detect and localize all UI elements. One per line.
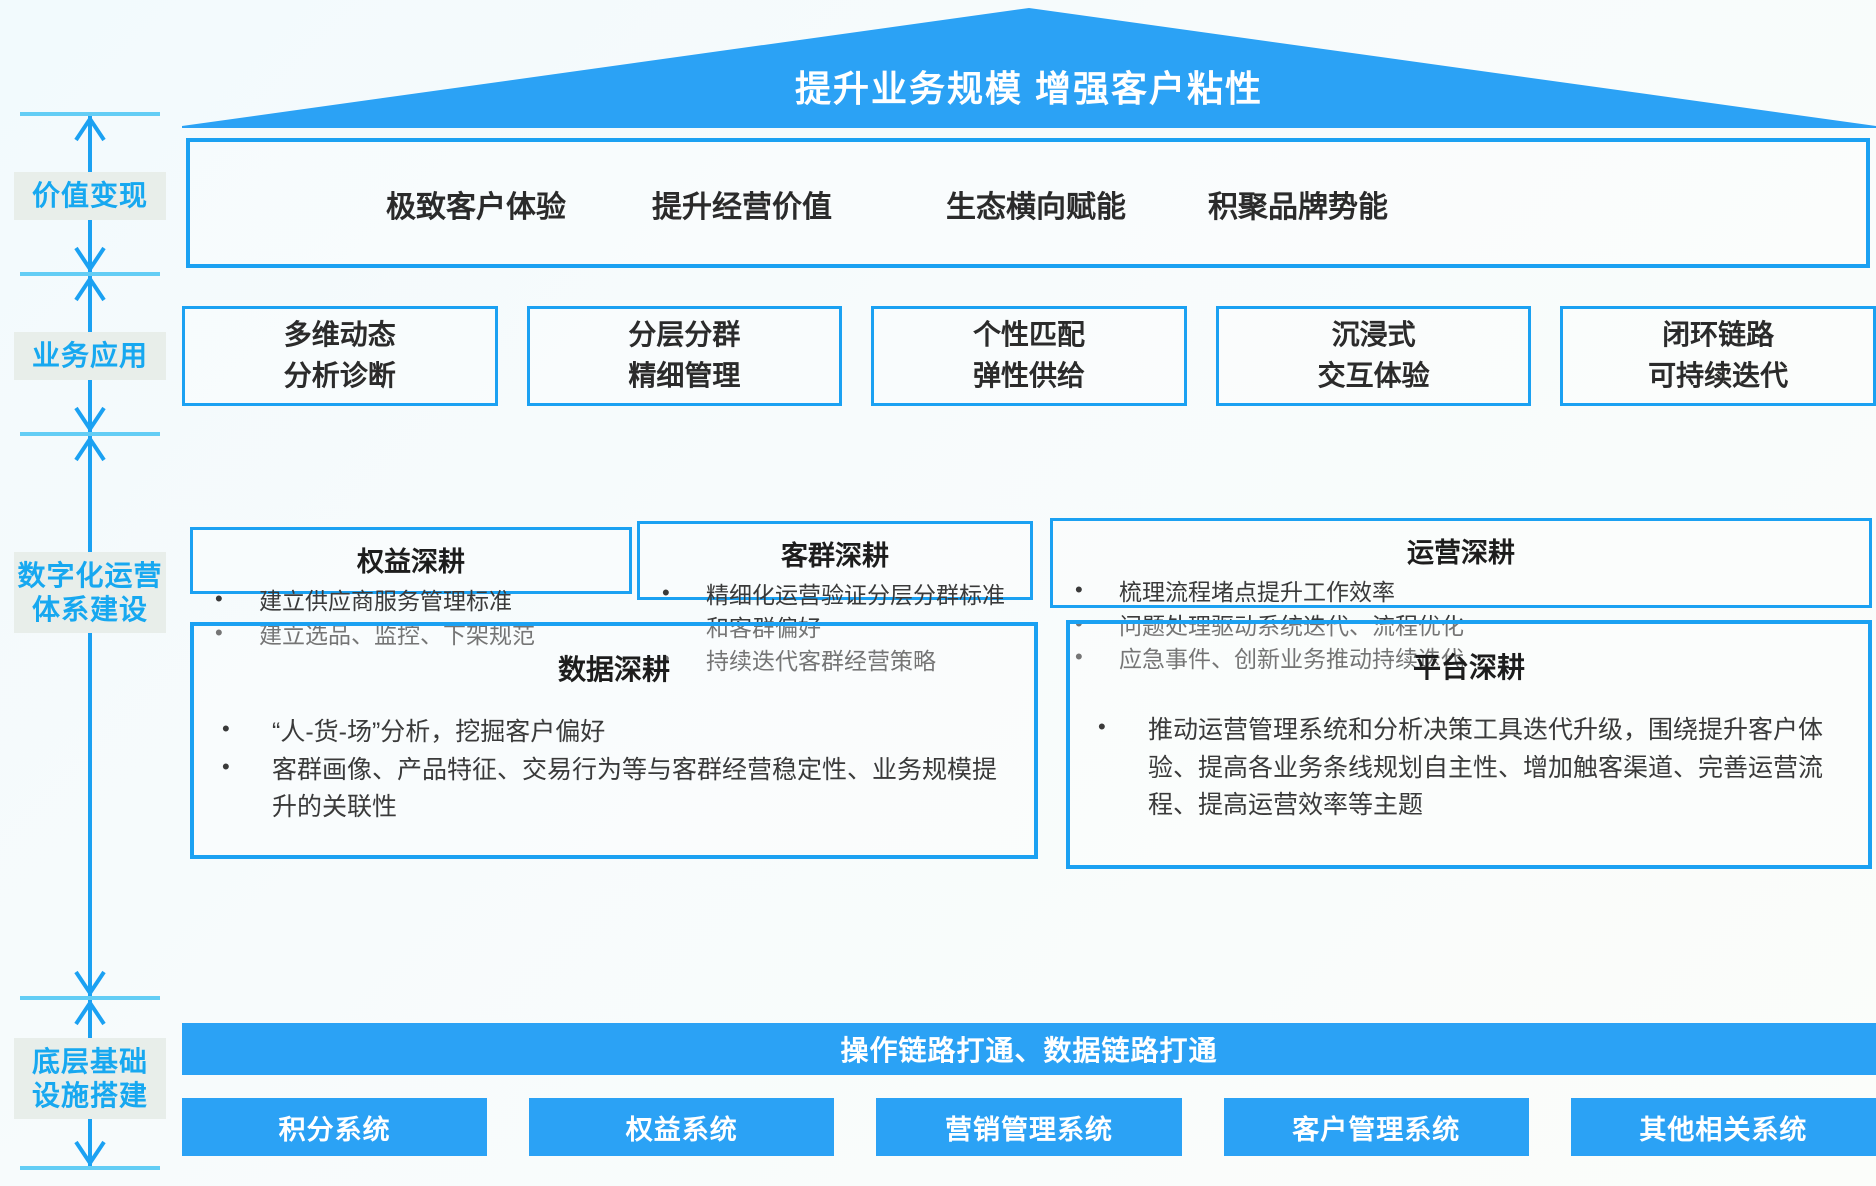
arrow-up-icon-2 [72,276,108,302]
application-box-0-line1: 多维动态 [284,315,396,356]
diagram-canvas: 提升业务规模 增强客户粘性 价值变现 业务应用 [0,0,1876,1186]
operation-card-platform-title: 平台深耕 [1076,646,1862,686]
application-box-4-line1: 闭环链路 [1662,315,1774,356]
infrastructure-link-bar: 操作链路打通、数据链路打通 [182,1023,1876,1075]
operation-card-rights-title: 权益深耕 [199,540,623,579]
rail-stem-3 [88,436,92,996]
application-box-1[interactable]: 分层分群 精细管理 [527,306,843,406]
application-box-2[interactable]: 个性匹配 弹性供给 [871,306,1187,406]
application-box-0[interactable]: 多维动态 分析诊断 [182,306,498,406]
infrastructure-link-bar-label: 操作链路打通、数据链路打通 [840,1029,1217,1069]
list-item: 建立供应商服务管理标准 [207,585,615,618]
value-item-2: 生态横向赋能 [946,182,1126,226]
operation-card-platform[interactable]: 平台深耕 推动运营管理系统和分析决策工具迭代升级，围绕提升客户体验、提高各业务条… [1066,620,1872,869]
value-item-3: 积聚品牌势能 [1208,182,1388,226]
value-item-1: 提升经营价值 [652,182,832,226]
operation-card-operations-title: 运营深耕 [1059,531,1863,570]
operation-card-customer-group-title: 客群深耕 [646,534,1024,573]
value-layer-items: 极致客户体验 提升经营价值 生态横向赋能 积聚品牌势能 [186,182,1870,226]
application-layer-row: 多维动态 分析诊断 分层分群 精细管理 个性匹配 弹性供给 沉浸式 交互体验 闭… [182,306,1876,406]
application-box-1-line2: 精细管理 [628,356,740,397]
list-item: 客群画像、产品特征、交易行为等与客群经营稳定性、业务规模提升的关联性 [210,752,1018,827]
application-box-2-line2: 弹性供给 [973,356,1085,397]
rail-chip-infrastructure: 底层基础 设施搭建 [14,1038,166,1119]
operation-card-data-bullets: “人-货-场”分析，挖掘客户偏好 客群画像、产品特征、交易行为等与客群经营稳定性… [200,714,1028,827]
system-box-points[interactable]: 积分系统 [182,1098,487,1156]
system-box-marketing[interactable]: 营销管理系统 [876,1098,1181,1156]
arrow-up-icon-1 [72,116,108,142]
rail-chip-digital-operations-line1: 数字化运营 [14,559,166,593]
operation-card-rights[interactable]: 权益深耕 建立供应商服务管理标准 建立选品、监控、下架规范 [190,527,632,594]
operation-card-data-title: 数据深耕 [200,648,1028,688]
rail-chip-infrastructure-line2: 设施搭建 [14,1079,166,1113]
rail-chip-value-label: 价值变现 [32,180,148,211]
list-item: 推动运营管理系统和分析决策工具迭代升级，围绕提升客户体验、提高各业务条线规划自主… [1086,712,1852,825]
rail-chip-digital-operations-line2: 体系建设 [14,593,166,627]
value-item-0: 极致客户体验 [386,182,566,226]
infrastructure-systems-row: 积分系统 权益系统 营销管理系统 客户管理系统 其他相关系统 [182,1098,1876,1156]
rail-divider-5 [20,1166,160,1170]
operation-card-customer-group[interactable]: 客群深耕 精细化运营验证分层分群标准和客群偏好 持续迭代客群经营策略 [637,521,1033,600]
rail-chip-application: 业务应用 [14,332,166,380]
application-box-2-line1: 个性匹配 [973,315,1085,356]
rail-chip-infrastructure-line1: 底层基础 [14,1045,166,1079]
list-item: 梳理流程堵点提升工作效率 [1067,576,1855,609]
roof-title: 提升业务规模 增强客户粘性 [182,60,1876,112]
application-box-0-line2: 分析诊断 [284,356,396,397]
arrow-down-icon-3 [72,970,108,996]
application-box-3[interactable]: 沉浸式 交互体验 [1216,306,1532,406]
list-item: “人-货-场”分析，挖掘客户偏好 [210,714,1018,752]
rail-chip-application-label: 业务应用 [32,340,148,371]
roof-triangle: 提升业务规模 增强客户粘性 [182,8,1876,128]
application-box-1-line1: 分层分群 [628,315,740,356]
operation-card-data[interactable]: 数据深耕 “人-货-场”分析，挖掘客户偏好 客群画像、产品特征、交易行为等与客群… [190,622,1038,859]
operation-card-operations[interactable]: 运营深耕 梳理流程堵点提升工作效率 问题处理驱动系统迭代、流程优化 应急事件、创… [1050,518,1872,608]
layer-rail: 价值变现 业务应用 数字化运营 体系建设 [14,112,166,1172]
system-box-rights[interactable]: 权益系统 [529,1098,834,1156]
application-box-4-line2: 可持续迭代 [1648,356,1788,397]
system-box-customer[interactable]: 客户管理系统 [1224,1098,1529,1156]
rail-chip-value: 价值变现 [14,172,166,220]
application-box-3-line1: 沉浸式 [1332,315,1416,356]
arrow-down-icon-2 [72,406,108,432]
system-box-other[interactable]: 其他相关系统 [1571,1098,1876,1156]
application-box-3-line2: 交互体验 [1318,356,1430,397]
rail-chip-digital-operations: 数字化运营 体系建设 [14,552,166,633]
operation-card-platform-bullets: 推动运营管理系统和分析决策工具迭代升级，围绕提升客户体验、提高各业务条线规划自主… [1076,712,1862,825]
arrow-down-icon-4 [72,1140,108,1166]
arrow-up-icon-3 [72,436,108,462]
arrow-up-icon-4 [72,1000,108,1026]
arrow-down-icon-1 [72,246,108,272]
application-box-4[interactable]: 闭环链路 可持续迭代 [1560,306,1876,406]
